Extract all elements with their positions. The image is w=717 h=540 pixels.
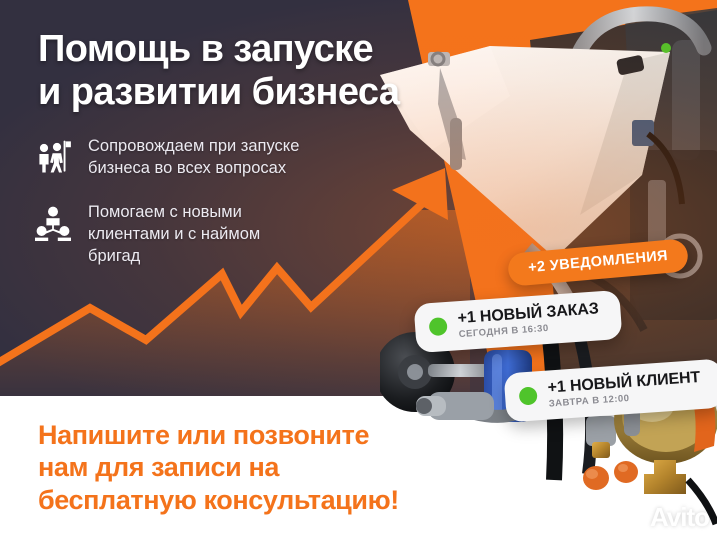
page-title: Помощь в запуске и развитии бизнеса [38,28,458,115]
feature-list: Сопровождаем при запуске бизнеса во всех… [34,136,374,290]
call-to-action-text: Напишите или позвоните нам для записи на… [38,419,458,516]
status-dot-green-icon [429,317,448,336]
watermark-label: Avito [650,502,709,533]
two-people-with-flag-icon [34,138,72,176]
status-badge: +2 УВЕДОМЛЕНИЯ [528,248,669,276]
promo-banner: Помощь в запуске и развитии бизнеса Сопр… [0,0,717,540]
status-dot-green-icon [519,386,538,405]
avito-watermark: Avito [650,502,709,533]
team-group-icon [34,204,72,242]
list-item: Помогаем с новыми клиентами и с наймом б… [34,202,374,268]
list-item-label: Помогаем с новыми клиентами и с наймом б… [88,202,260,268]
list-item: Сопровождаем при запуске бизнеса во всех… [34,136,374,180]
list-item-label: Сопровождаем при запуске бизнеса во всех… [88,136,299,180]
